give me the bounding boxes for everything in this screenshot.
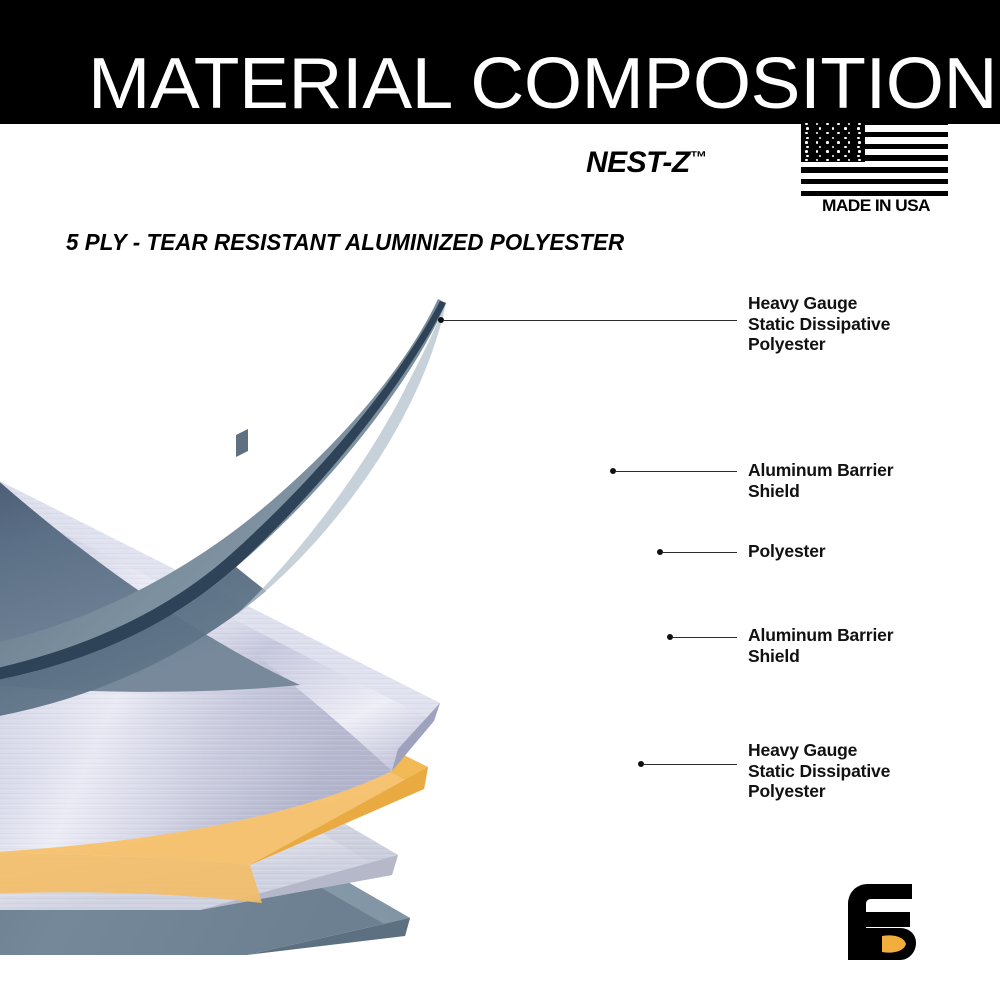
made-in-usa-badge [801, 120, 948, 197]
us-flag-icon [801, 120, 948, 197]
callout-1-line [443, 320, 737, 321]
layer-1-heavy-gauge-polyester [0, 299, 446, 725]
callout-2-line [615, 471, 737, 472]
callout-4-line [672, 637, 737, 638]
callout-4-label: Aluminum Barrier Shield [748, 625, 893, 666]
brand-name: NEST-Z™ [586, 146, 707, 180]
callout-3-label: Polyester [748, 541, 825, 562]
infographic-page: MATERIAL COMPOSITION NEST-Z™ MA [0, 0, 1000, 1000]
fd-brand-logo [846, 884, 918, 960]
callout-1-label: Heavy Gauge Static Dissipative Polyester [748, 293, 890, 355]
callout-5-label: Heavy Gauge Static Dissipative Polyester [748, 740, 890, 802]
made-in-usa-caption: MADE IN USA [802, 196, 951, 216]
brand-name-text: NEST-Z [586, 146, 690, 179]
trademark-symbol: ™ [690, 148, 707, 167]
flag-canton [801, 120, 865, 162]
layer-stack-diagram [0, 255, 720, 955]
page-title: MATERIAL COMPOSITION [88, 44, 982, 124]
callout-3-line [662, 552, 737, 553]
subtitle: 5 PLY - TEAR RESISTANT ALUMINIZED POLYES… [66, 229, 624, 256]
callout-5-line [643, 764, 737, 765]
callout-2-label: Aluminum Barrier Shield [748, 460, 893, 501]
